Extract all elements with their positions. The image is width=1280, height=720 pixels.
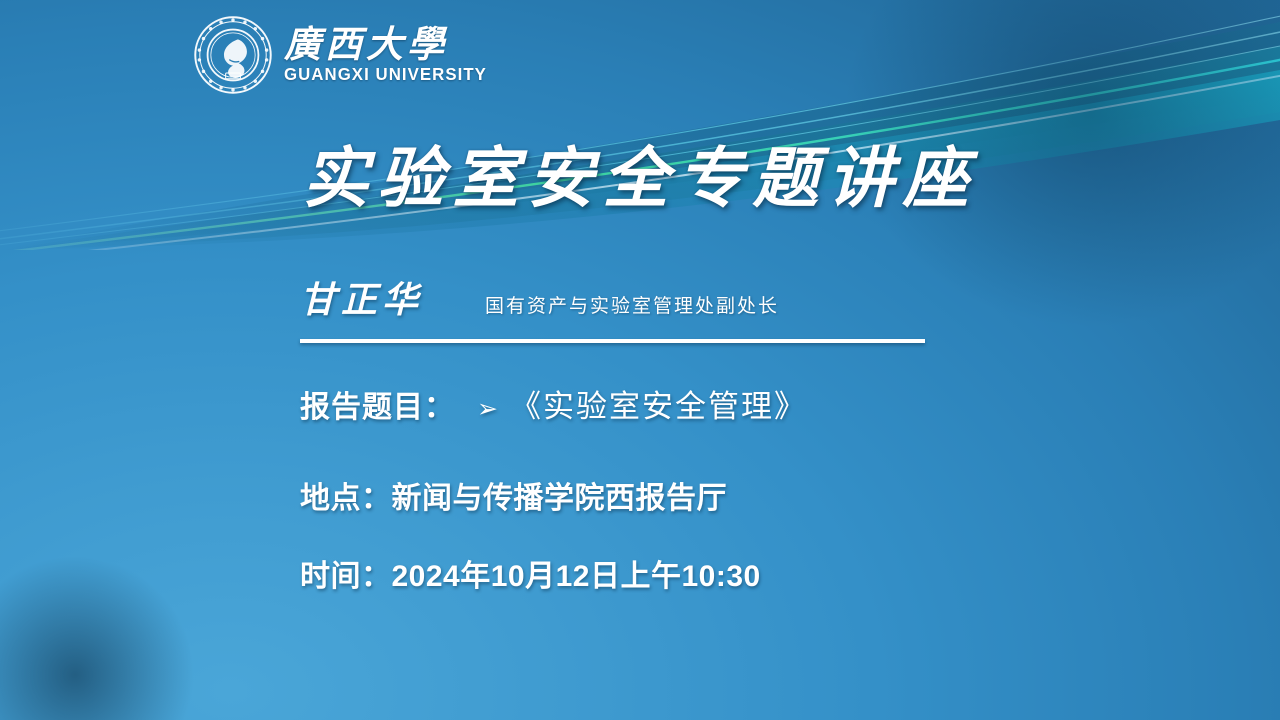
slide-title: 实验室安全专题讲座	[0, 145, 1280, 211]
topic-row: 报告题目： ➢ 《实验室安全管理》	[300, 381, 1000, 426]
slide-body: 甘正华 国有资产与实验室管理处副处长 报告题目： ➢ 《实验室安全管理》 地点：…	[300, 282, 1000, 595]
section-divider	[300, 339, 925, 343]
lecture-announcement-slide: 廣西大學 GUANGXI UNIVERSITY 实验室安全专题讲座 甘正华 国有…	[0, 0, 1280, 720]
speaker-name: 甘正华	[300, 282, 423, 318]
topic-label: 报告题目：	[300, 382, 455, 426]
university-seal-icon	[192, 14, 274, 96]
university-wordmark: 廣西大學 GUANGXI UNIVERSITY	[284, 25, 495, 86]
university-name-cn: 廣西大學	[284, 25, 448, 64]
arrow-bullet-icon: ➢	[477, 397, 498, 422]
corner-shading-bottom-left	[0, 467, 283, 720]
speaker-role: 国有资产与实验室管理处副处长	[485, 297, 779, 316]
topic-value: 《实验室安全管理》	[510, 381, 807, 426]
speaker-row: 甘正华 国有资产与实验室管理处副处长	[300, 282, 1000, 330]
university-name-en: GUANGXI UNIVERSITY	[284, 64, 487, 85]
university-logo: 廣西大學 GUANGXI UNIVERSITY	[192, 14, 495, 96]
location-line: 地点：新闻与传播学院西报告厅	[300, 473, 1000, 517]
time-line: 时间：2024年10月12日上午10:30	[300, 551, 1000, 595]
